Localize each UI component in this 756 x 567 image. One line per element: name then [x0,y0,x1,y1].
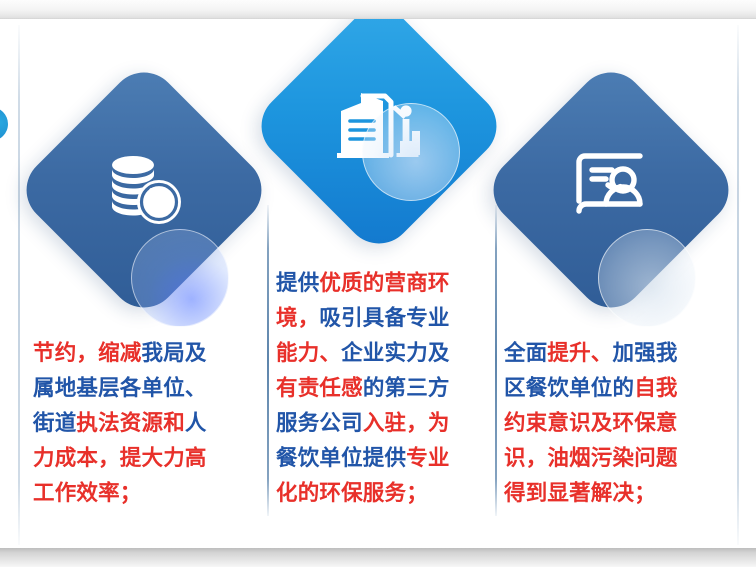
caption-run: 吸引具备专业 [319,306,449,330]
caption-run: 工作效率； [33,481,142,505]
benefit-caption-business-environment: 提供优质的营商环境，吸引具备专业能力、企业实力及有责任感的第三方服务公司入驻，为… [276,266,500,511]
caption-run: 加强我 [613,341,678,365]
caption-line: 全面提升、加强我 [504,336,728,371]
caption-line: 区餐饮单位的自我 [504,371,728,406]
caption-run: 得到显著解决； [504,481,656,505]
caption-line: 力成本，提大力高 [33,441,257,476]
caption-run: 化的环保服务； [276,481,428,505]
caption-run: 服务公司 [276,411,363,435]
caption-run: 识，油烟污染问题 [504,446,678,470]
caption-line: 得到显著解决； [504,476,728,511]
caption-line: 境，吸引具备专业 [276,301,500,336]
caption-run: 餐饮单位提供 [276,446,406,470]
caption-line: 属地基层各单位、 [33,371,257,406]
caption-run: 我局及 [142,341,207,365]
caption-run: 的第三方 [363,376,450,400]
slide-canvas: 节约，缩减我局及属地基层各单位、街道执法资源和人力成本，提大力高工作效率； [0,19,756,548]
caption-run: 区餐饮单位的 [504,376,634,400]
caption-run: 有责任感 [276,376,363,400]
caption-run: 专业 [406,446,449,470]
caption-run: 人 [185,411,207,435]
caption-line: 服务公司入驻，为 [276,406,500,441]
caption-run: 入驻，为 [363,411,450,435]
caption-run: 提供 [276,271,319,295]
caption-line: 街道执法资源和人 [33,406,257,441]
caption-run: 约束意识及环保意 [504,411,678,435]
caption-run: 力成本，提大力高 [33,446,207,470]
coin-stack-down-arrow-icon [94,138,194,238]
caption-run: 自我 [634,376,677,400]
caption-line: 餐饮单位提供专业 [276,441,500,476]
viewer-bottom-chrome [0,548,756,567]
caption-run: 提升、 [547,341,612,365]
caption-run: 能力、 [276,341,341,365]
caption-line: 工作效率； [33,476,257,511]
caption-run: 属地基层各单位、 [33,376,207,400]
icon-tile-business-environment[interactable] [286,33,472,219]
caption-line: 有责任感的第三方 [276,371,500,406]
clipped-decoration-circle [0,107,8,141]
benefit-caption-awareness: 全面提升、加强我区餐饮单位的自我约束意识及环保意识，油烟污染问题得到显著解决； [504,336,728,511]
icon-tile-cost-saving[interactable] [51,97,237,283]
caption-run: 境， [276,306,319,330]
caption-run: 节约，缩减 [33,341,142,365]
caption-run: 企业实力及 [341,341,450,365]
caption-run: 执法资源和 [76,411,185,435]
frame-border-right [737,25,739,545]
caption-line: 识，油烟污染问题 [504,441,728,476]
frame-border-left [18,25,20,545]
person-with-presentation-board-icon [561,138,661,238]
caption-line: 约束意识及环保意 [504,406,728,441]
icon-tile-awareness[interactable] [518,97,704,283]
caption-line: 能力、企业实力及 [276,336,500,371]
caption-line: 节约，缩减我局及 [33,336,257,371]
benefit-caption-cost-saving: 节约，缩减我局及属地基层各单位、街道执法资源和人力成本，提大力高工作效率； [33,336,257,511]
viewer-top-chrome [0,0,756,19]
caption-run: 优质的营商环 [319,271,449,295]
caption-run: 街道 [33,411,76,435]
column-divider-1 [267,205,269,516]
factory-building-with-businessperson-icon [329,74,429,174]
caption-line: 化的环保服务； [276,476,500,511]
caption-line: 提供优质的营商环 [276,266,500,301]
caption-run: 全面 [504,341,547,365]
